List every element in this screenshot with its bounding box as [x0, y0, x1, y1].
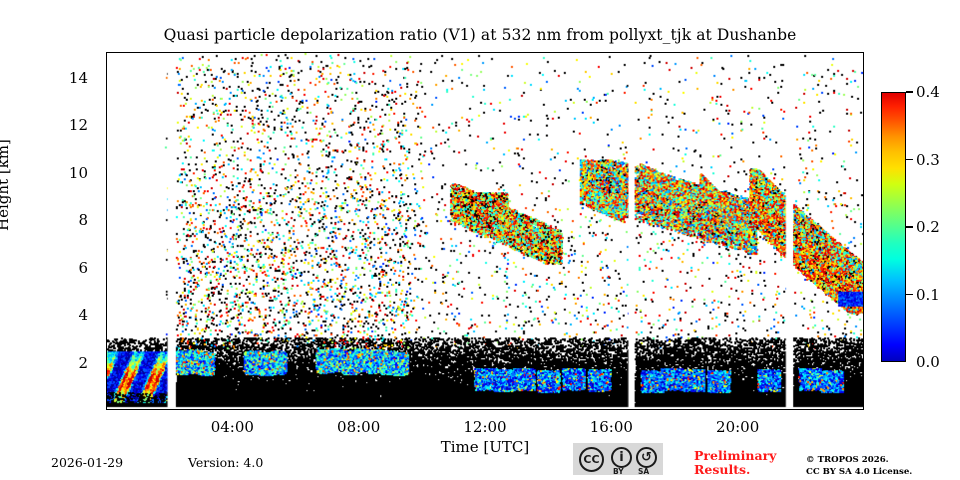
footer-date: 2026-01-29 — [51, 455, 123, 470]
cc-icon: CC — [579, 447, 604, 472]
copyright-note: © TROPOS 2026. CC BY SA 4.0 License. — [806, 455, 912, 478]
colorbar-tick-label-2: 0.2 — [916, 218, 940, 236]
colorbar-tick-label-0: 0.0 — [916, 353, 940, 371]
copyright-line-1: © TROPOS 2026. — [806, 455, 889, 465]
x-tick-top-20 — [0, 321, 2, 330]
x-tick-label-3: 16:00 — [571, 418, 651, 436]
colorbar-tick-label-3: 0.3 — [916, 151, 940, 169]
x-tick-label-2: 12:00 — [445, 418, 525, 436]
depolarization-heatmap-canvas — [107, 53, 863, 409]
cc-by-icon: i — [611, 447, 632, 468]
y-tick-label-4: 4 — [48, 306, 88, 324]
y-tick-label-6: 6 — [48, 259, 88, 277]
cc-badge-bar — [573, 474, 663, 475]
x-tick-label-4: 20:00 — [698, 418, 778, 436]
figure-title: Quasi particle depolarization ratio (V1)… — [0, 26, 960, 44]
lidar-quicklook-figure: Quasi particle depolarization ratio (V1)… — [0, 0, 960, 480]
colorbar-tick-label-1: 0.1 — [916, 286, 940, 304]
colorbar-tick-3 — [906, 159, 913, 160]
colorbar-tick-label-4: 0.4 — [916, 83, 940, 101]
x-tick-top-4 — [0, 105, 2, 114]
preliminary-results-note: Preliminary Results. — [694, 449, 804, 477]
copyright-line-2: CC BY SA 4.0 License. — [806, 467, 912, 477]
x-tick-top-16 — [0, 267, 2, 276]
footer-version: Version: 4.0 — [188, 455, 263, 470]
x-tick-label-1: 08:00 — [319, 418, 399, 436]
colorbar-tick-4 — [906, 91, 913, 92]
x-tick-4 — [0, 96, 2, 105]
colorbar-tick-1 — [906, 294, 913, 295]
colorbar-tick-2 — [906, 226, 913, 227]
plot-area — [106, 52, 864, 410]
creative-commons-badge: CC i ↺ BY SA — [573, 443, 663, 475]
preliminary-line-2: Results. — [694, 462, 750, 477]
preliminary-line-1: Preliminary — [694, 448, 776, 463]
y-tick-label-14: 14 — [48, 69, 88, 87]
cc-sa-icon: ↺ — [636, 447, 657, 468]
x-tick-20 — [0, 312, 2, 321]
x-tick-16 — [0, 258, 2, 267]
y-tick-label-8: 8 — [48, 211, 88, 229]
y-tick-label-2: 2 — [48, 354, 88, 372]
x-tick-top-24 — [0, 372, 2, 378]
y-tick-label-10: 10 — [48, 164, 88, 182]
colorbar — [881, 92, 906, 362]
y-tick-label-12: 12 — [48, 116, 88, 134]
x-tick-label-0: 04:00 — [192, 418, 272, 436]
y-axis-title: Height [km] — [0, 139, 12, 231]
